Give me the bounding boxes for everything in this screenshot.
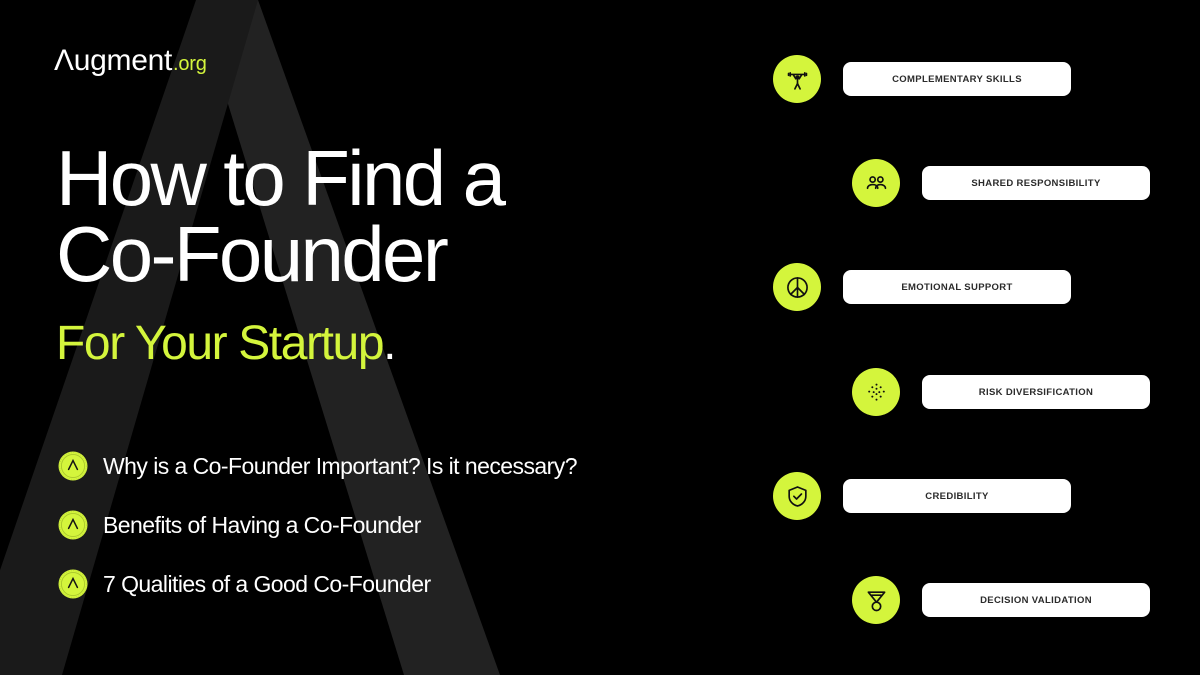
list-item[interactable]: Why is a Co-Founder Important? Is it nec… (58, 446, 738, 486)
feature-card[interactable]: CREDIBILITY (843, 479, 1071, 513)
feature-label: DECISION VALIDATION (980, 595, 1092, 606)
page-subtitle-period: . (383, 317, 395, 370)
list-item[interactable]: Benefits of Having a Co-Founder (58, 505, 738, 545)
medal-icon (852, 576, 900, 624)
augment-seal-icon (58, 510, 88, 540)
augment-seal-icon (58, 451, 88, 481)
feature-row[interactable]: COMPLEMENTARY SKILLS (773, 53, 1071, 105)
slide-canvas: Λugment .org How to Find a Co-Founder Fo… (0, 0, 1200, 675)
list-item[interactable]: 7 Qualities of a Good Co-Founder (58, 564, 738, 604)
brand-logo[interactable]: Λugment .org (54, 46, 207, 76)
feature-card[interactable]: DECISION VALIDATION (922, 583, 1150, 617)
list-item-label: Benefits of Having a Co-Founder (103, 514, 421, 537)
feature-card[interactable]: RISK DIVERSIFICATION (922, 375, 1150, 409)
hero-text-block: How to Find a Co-Founder For Your Startu… (56, 140, 736, 369)
logo-tld: .org (173, 54, 207, 74)
feature-label: CREDIBILITY (925, 491, 989, 502)
feature-row[interactable]: EMOTIONAL SUPPORT (773, 261, 1071, 313)
list-item-label: 7 Qualities of a Good Co-Founder (103, 573, 431, 596)
page-title: How to Find a Co-Founder (56, 140, 736, 293)
feature-card[interactable]: SHARED RESPONSIBILITY (922, 166, 1150, 200)
feature-label: COMPLEMENTARY SKILLS (892, 74, 1022, 85)
shield-check-icon (773, 472, 821, 520)
peace-sign-icon (773, 263, 821, 311)
feature-row[interactable]: CREDIBILITY (773, 470, 1071, 522)
augment-seal-icon (58, 569, 88, 599)
feature-row[interactable]: DECISION VALIDATION (852, 574, 1150, 626)
feature-label: RISK DIVERSIFICATION (979, 387, 1094, 398)
weightlifter-icon (773, 55, 821, 103)
scatter-dots-icon (852, 368, 900, 416)
feature-row[interactable]: RISK DIVERSIFICATION (852, 366, 1150, 418)
logo-wordmark: Λugment (54, 46, 172, 76)
feature-label: EMOTIONAL SUPPORT (901, 282, 1012, 293)
list-item-label: Why is a Co-Founder Important? Is it nec… (103, 455, 577, 478)
feature-card[interactable]: EMOTIONAL SUPPORT (843, 270, 1071, 304)
two-people-icon (852, 159, 900, 207)
page-subtitle: For Your Startup. (56, 319, 736, 369)
feature-list: COMPLEMENTARY SKILLS SHARED RESPONSIBILI… (740, 0, 1200, 675)
page-subtitle-text: For Your Startup (56, 317, 383, 370)
feature-label: SHARED RESPONSIBILITY (971, 178, 1100, 189)
feature-row[interactable]: SHARED RESPONSIBILITY (852, 157, 1150, 209)
agenda-list: Why is a Co-Founder Important? Is it nec… (58, 446, 738, 623)
feature-card[interactable]: COMPLEMENTARY SKILLS (843, 62, 1071, 96)
